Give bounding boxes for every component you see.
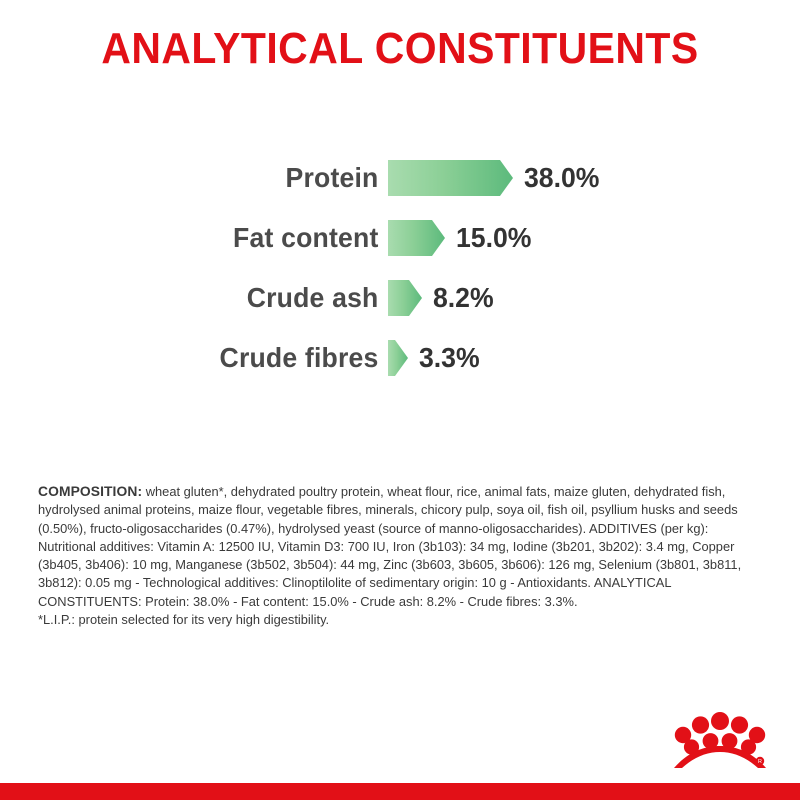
page-title: ANALYTICAL CONSTITUENTS [28, 24, 772, 73]
constituent-value: 3.3% [419, 344, 480, 372]
composition-footnote: *L.I.P.: protein selected for its very h… [38, 611, 761, 629]
analytical-constituents-chart: Protein 38.0% Fat content 15.0% Crude as… [0, 148, 800, 388]
constituent-bar [388, 220, 445, 256]
constituent-label: Crude ash [19, 284, 388, 312]
constituent-bar [388, 340, 408, 376]
product-info-panel: ANALYTICAL CONSTITUENTS Protein 38.0% Fa… [0, 0, 800, 800]
constituent-value: 15.0% [456, 224, 531, 252]
constituent-bar [388, 160, 513, 196]
footer-red-bar [0, 783, 800, 800]
composition-text-block: COMPOSITION: wheat gluten*, dehydrated p… [38, 483, 761, 629]
constituent-bar-wrap: 38.0% [388, 160, 603, 196]
constituent-row-crude-ash: Crude ash 8.2% [0, 268, 800, 328]
constituent-bar-wrap: 3.3% [388, 340, 483, 376]
svg-text:R: R [758, 759, 762, 765]
composition-body: wheat gluten*, dehydrated poultry protei… [38, 484, 741, 609]
constituent-row-crude-fibres: Crude fibres 3.3% [0, 328, 800, 388]
constituent-bar-wrap: 8.2% [388, 280, 497, 316]
constituent-row-protein: Protein 38.0% [0, 148, 800, 208]
constituent-bar [388, 280, 422, 316]
constituent-label: Crude fibres [19, 344, 388, 372]
constituent-value: 38.0% [524, 164, 599, 192]
constituent-label: Protein [19, 164, 388, 192]
constituent-value: 8.2% [433, 284, 494, 312]
constituent-row-fat-content: Fat content 15.0% [0, 208, 800, 268]
constituent-label: Fat content [19, 224, 388, 252]
royal-canin-crown-logo: R [672, 708, 768, 770]
constituent-bar-wrap: 15.0% [388, 220, 535, 256]
composition-heading: COMPOSITION: [38, 484, 142, 500]
